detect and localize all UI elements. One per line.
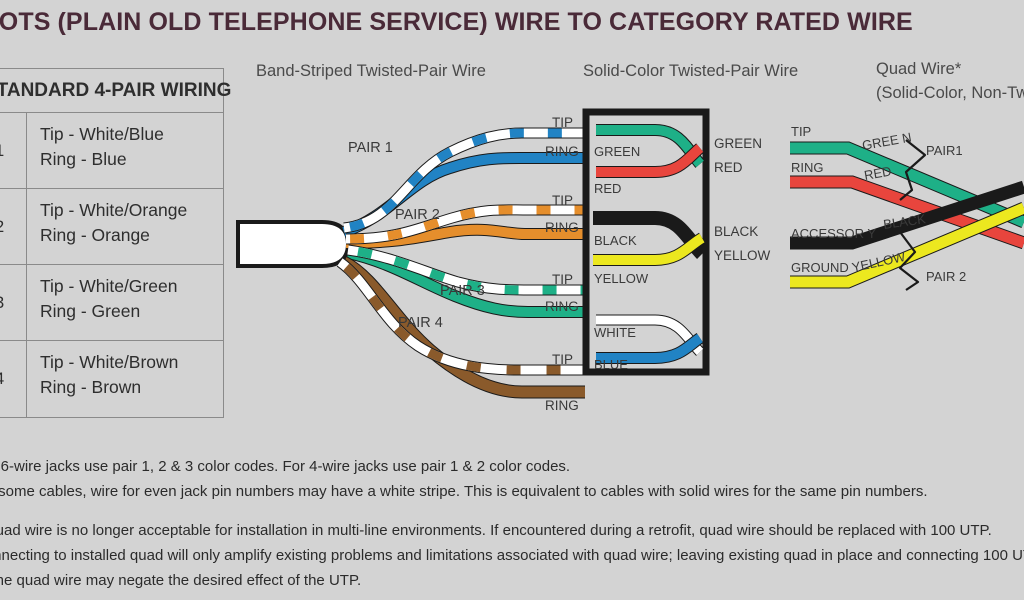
solid-green-label: GREEN [594,144,640,159]
pair2-tip-bands [346,210,585,239]
quad-yellow-outline [790,208,1024,282]
ring-label: Ring - Brown [40,375,223,400]
diagram-page: POTS (PLAIN OLD TELEPHONE SERVICE) WIRE … [0,0,1024,600]
pair1-tip-label: TIP [552,115,573,130]
pair3-tip-outline [348,250,585,290]
pair3-tip-wire [348,250,585,290]
pair1-tip-wire [344,133,585,228]
tip-label: Tip - White/Brown [40,350,223,375]
footnote-line: or the quad wire may negate the desired … [0,568,1024,593]
quad-red-outline [790,182,1024,243]
quad-accessory-label: ACCESSOR Y [791,226,876,241]
footnote-line: * Quad wire is no longer acceptable for … [0,518,1024,543]
solid-out-yellow-label: YELLOW [714,248,771,263]
pair1-label: PAIR 1 [348,140,393,156]
pair1-ring-outline [344,158,585,232]
pair-number: 3 [0,265,27,340]
quad-yellow-name: YELLOW [851,249,908,275]
solid-green-wire [596,130,700,164]
pair-number: 2 [0,189,27,264]
pair4-ring-label: RING [545,398,579,413]
tip-label: Tip - White/Blue [40,122,223,147]
pair2-tip-outline [346,210,585,239]
solid-out-black-label: BLACK [714,224,758,239]
pair1-tip-bands [344,133,585,228]
solid-blue-label: BLUE [594,357,628,372]
ring-label: Ring - Green [40,299,223,324]
table-row: 3 Tip - White/Green Ring - Green [0,265,223,341]
pair-colors: Tip - White/Blue Ring - Blue [27,113,223,188]
solid-red-label: RED [594,181,621,196]
pair3-ring-outline [348,253,585,312]
solid-blue-wire [596,338,700,358]
solid-yellow-outline [593,238,702,260]
pair2-ring-wire [346,230,585,243]
pair4-tip-bands [340,262,585,370]
quad-ring-label: RING [791,160,824,175]
pair4-ring-wire [344,262,585,392]
pair2-label: PAIR 2 [395,207,440,223]
pair3-tip-bands [348,250,585,290]
pair1-ring-label: RING [545,144,579,159]
quad-red-wire [790,182,1024,243]
solid-black-label: BLACK [594,233,637,248]
pair1-tip-outline [344,133,585,228]
tip-label: Tip - White/Green [40,274,223,299]
solid-white-outline [596,320,700,352]
solid-white-label: WHITE [594,325,636,340]
pair4-tip-wire [340,262,585,370]
table-row: 1 Tip - White/Blue Ring - Blue [0,113,223,189]
quad-pair2-bracket [900,232,918,290]
header-band-striped: Band-Striped Twisted-Pair Wire [256,62,486,81]
quad-green-name: GREE N [861,130,913,153]
solid-out-red-label: RED [714,160,743,175]
pair4-label: PAIR 4 [398,315,443,331]
pair4-tip-outline [340,262,585,370]
pair2-tip-wire [346,210,585,239]
quad-black-name: BLACK [882,211,927,232]
solid-blue-outline [596,338,700,358]
quad-pair2-label: PAIR 2 [926,269,966,284]
pair-colors: Tip - White/Brown Ring - Brown [27,341,223,417]
solid-green-outline [596,130,700,164]
footnote-line: Connecting to installed quad will only a… [0,543,1024,568]
tip-label: Tip - White/Orange [40,198,223,223]
solid-red-wire [596,148,700,172]
ring-label: Ring - Orange [40,223,223,248]
solid-white-wire [596,320,700,352]
page-title: POTS (PLAIN OLD TELEPHONE SERVICE) WIRE … [0,8,913,37]
cable-jacket [238,222,348,266]
pair2-ring-label: RING [545,220,579,235]
table-row: 4 Tip - White/Brown Ring - Brown [0,341,223,417]
quad-black-wire [790,187,1024,243]
solid-black-wire [593,218,702,254]
quad-red-name: RED [863,163,893,183]
standard-4-pair-wiring-table: STANDARD 4-PAIR WIRING 1 Tip - White/Blu… [0,68,224,418]
table-heading: STANDARD 4-PAIR WIRING [0,69,223,113]
pair3-label: PAIR 3 [440,283,485,299]
footnote-line: On some cables, wire for even jack pin n… [0,479,1024,504]
header-solid-color: Solid-Color Twisted-Pair Wire [583,62,798,81]
pair3-ring-wire [348,253,585,312]
footnote-line: For 6-wire jacks use pair 1, 2 & 3 color… [0,454,1024,479]
quad-yellow-wire [790,208,1024,282]
pair-number: 1 [0,113,27,188]
quad-pair1-label: PAIR1 [926,143,963,158]
table-row: 2 Tip - White/Orange Ring - Orange [0,189,223,265]
title-bar: POTS (PLAIN OLD TELEPHONE SERVICE) WIRE … [0,0,1024,44]
pair-colors: Tip - White/Green Ring - Green [27,265,223,340]
quad-green-outline [790,148,1024,222]
header-quad-wire-sub: (Solid-Color, Non-Twisted) [876,84,1024,103]
solid-yellow-label: YELLOW [594,271,649,286]
solid-color-box [586,112,706,372]
pair-colors: Tip - White/Orange Ring - Orange [27,189,223,264]
solid-out-green-label: GREEN [714,136,762,151]
quad-tip-label: TIP [791,124,811,139]
footnotes: For 6-wire jacks use pair 1, 2 & 3 color… [0,454,1024,593]
quad-pair1-bracket [900,140,925,200]
quad-green-wire [790,148,1024,222]
pair-number: 4 [0,341,27,417]
pair1-ring-wire [344,158,585,232]
pair4-tip-label: TIP [552,352,573,367]
solid-red-outline [596,148,700,172]
pair2-tip-label: TIP [552,193,573,208]
pair4-ring-outline [344,262,585,392]
pair3-tip-label: TIP [552,272,573,287]
pair2-ring-outline [346,230,585,243]
ring-label: Ring - Blue [40,147,223,172]
pair3-ring-label: RING [545,299,579,314]
solid-yellow-wire [593,238,702,260]
quad-ground-label: GROUND [791,260,849,275]
header-quad-wire: Quad Wire* [876,60,961,79]
footnote-spacer [0,504,1024,518]
